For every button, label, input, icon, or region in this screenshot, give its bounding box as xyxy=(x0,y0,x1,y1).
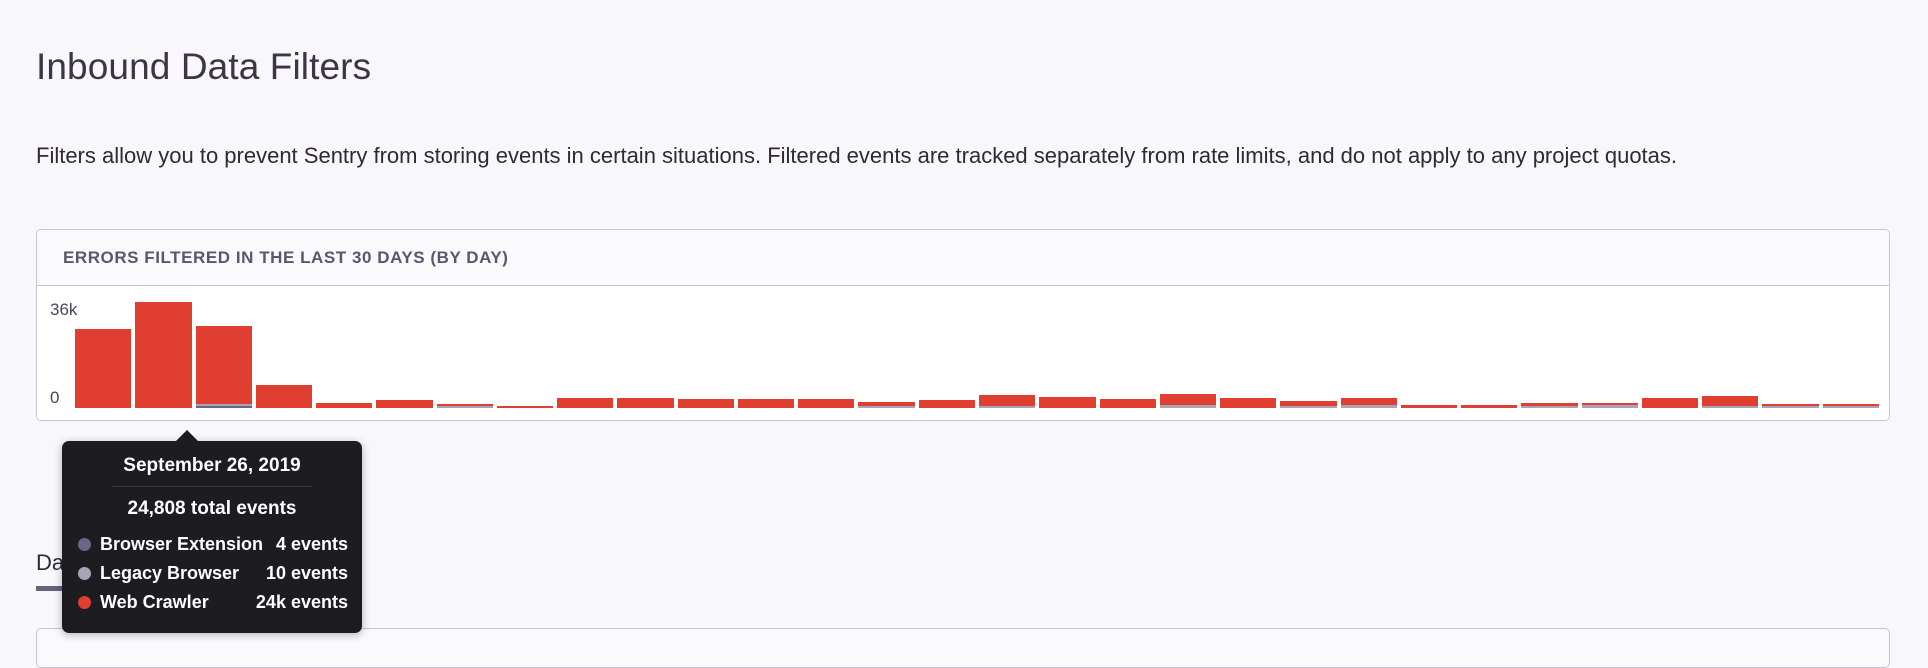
bar-segment xyxy=(1341,405,1397,408)
bar-segment xyxy=(1039,397,1095,408)
y-axis-min-label: 0 xyxy=(50,388,59,408)
bar-column[interactable] xyxy=(1220,294,1276,408)
tooltip-series-label: Browser Extension xyxy=(100,534,263,555)
tooltip-row: Legacy Browser10 events xyxy=(62,559,362,588)
series-color-dot-icon xyxy=(78,596,91,609)
bar-column[interactable] xyxy=(617,294,673,408)
bar-segment xyxy=(196,406,252,408)
bar-segment xyxy=(376,400,432,408)
chart-panel-header: ERRORS FILTERED IN THE LAST 30 DAYS (BY … xyxy=(37,230,1889,286)
bar-column[interactable] xyxy=(135,294,191,408)
bar-segment xyxy=(1823,406,1879,408)
tooltip-series-rows: Browser Extension4 eventsLegacy Browser1… xyxy=(62,530,362,617)
bar-segment xyxy=(617,398,673,408)
tooltip-series-label: Web Crawler xyxy=(100,592,209,613)
bar-series-container xyxy=(75,294,1879,408)
bar-column[interactable] xyxy=(1521,294,1577,408)
bar-segment xyxy=(858,406,914,408)
bar-segment xyxy=(1461,405,1517,408)
bar-column[interactable] xyxy=(557,294,613,408)
bar-column[interactable] xyxy=(437,294,493,408)
filters-list-panel xyxy=(36,628,1890,668)
bar-segment xyxy=(1762,406,1818,409)
bar-column[interactable] xyxy=(497,294,553,408)
bar-segment xyxy=(557,398,613,408)
bar-column[interactable] xyxy=(919,294,975,408)
bar-segment xyxy=(678,399,734,408)
bar-segment xyxy=(738,399,794,409)
bar-segment xyxy=(497,406,553,408)
bar-column[interactable] xyxy=(1100,294,1156,408)
bar-segment xyxy=(1582,405,1638,408)
tooltip-series-label: Legacy Browser xyxy=(100,563,239,584)
errors-filtered-chart-panel: ERRORS FILTERED IN THE LAST 30 DAYS (BY … xyxy=(36,229,1890,421)
tooltip-series-value: 24k events xyxy=(256,592,348,613)
bar-segment xyxy=(1702,396,1758,406)
bar-segment xyxy=(979,395,1035,406)
chart-tooltip: September 26, 2019 24,808 total events B… xyxy=(62,441,362,633)
bar-segment xyxy=(196,326,252,405)
bar-column[interactable] xyxy=(1582,294,1638,408)
series-color-dot-icon xyxy=(78,538,91,551)
bar-segment xyxy=(1401,405,1457,409)
bar-column[interactable] xyxy=(1341,294,1397,408)
bar-column[interactable] xyxy=(196,294,252,408)
bar-segment xyxy=(1280,406,1336,408)
bar-column[interactable] xyxy=(316,294,372,408)
bar-segment xyxy=(919,400,975,409)
tooltip-arrow-icon xyxy=(175,430,199,442)
tooltip-date: September 26, 2019 xyxy=(62,455,362,486)
bar-segment xyxy=(1160,394,1216,405)
tooltip-total-events: 24,808 total events xyxy=(112,486,312,520)
bar-column[interactable] xyxy=(738,294,794,408)
bar-segment xyxy=(437,406,493,408)
bar-segment xyxy=(1521,406,1577,409)
bar-column[interactable] xyxy=(256,294,312,408)
tooltip-series-value: 4 events xyxy=(276,534,348,555)
page-description: Filters allow you to prevent Sentry from… xyxy=(36,137,1888,175)
y-axis-max-label: 36k xyxy=(50,300,77,320)
bar-segment xyxy=(1160,405,1216,408)
bar-column[interactable] xyxy=(858,294,914,408)
bar-column[interactable] xyxy=(979,294,1035,408)
bar-column[interactable] xyxy=(798,294,854,408)
bar-segment xyxy=(798,399,854,408)
tooltip-row: Browser Extension4 events xyxy=(62,530,362,559)
page-title: Inbound Data Filters xyxy=(36,45,371,89)
bar-segment xyxy=(1341,398,1397,406)
bar-column[interactable] xyxy=(1702,294,1758,408)
chart-panel-title: ERRORS FILTERED IN THE LAST 30 DAYS (BY … xyxy=(63,248,509,268)
bar-segment xyxy=(256,385,312,408)
bar-column[interactable] xyxy=(1823,294,1879,408)
bar-column[interactable] xyxy=(1160,294,1216,408)
bar-segment xyxy=(1220,398,1276,408)
bar-segment xyxy=(1642,398,1698,408)
bar-segment xyxy=(75,329,131,408)
bar-column[interactable] xyxy=(376,294,432,408)
bar-column[interactable] xyxy=(1461,294,1517,408)
series-color-dot-icon xyxy=(78,567,91,580)
bar-column[interactable] xyxy=(1280,294,1336,408)
bar-segment xyxy=(979,406,1035,408)
bar-column[interactable] xyxy=(1401,294,1457,408)
chart-plot-area[interactable]: 36k 0 xyxy=(37,286,1889,420)
bar-segment xyxy=(316,403,372,408)
tooltip-series-value: 10 events xyxy=(266,563,348,584)
bar-column[interactable] xyxy=(1039,294,1095,408)
bar-column[interactable] xyxy=(678,294,734,408)
bar-segment xyxy=(1702,406,1758,408)
bar-segment xyxy=(135,302,191,408)
bar-column[interactable] xyxy=(1642,294,1698,408)
tooltip-row: Web Crawler24k events xyxy=(62,588,362,617)
bar-segment xyxy=(1100,399,1156,408)
bar-column[interactable] xyxy=(1762,294,1818,408)
bar-column[interactable] xyxy=(75,294,131,408)
